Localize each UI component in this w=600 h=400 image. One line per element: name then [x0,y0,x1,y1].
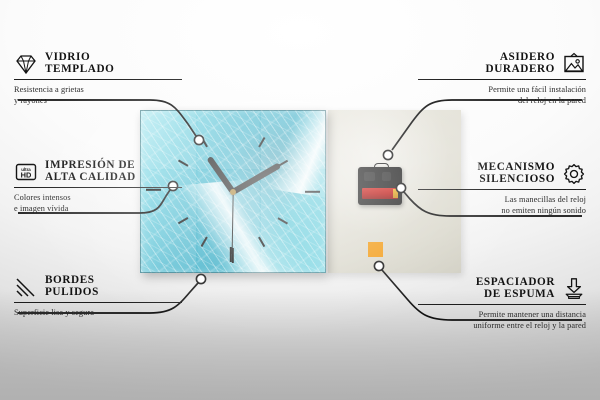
feature-title-line2: DURADERO [486,64,555,76]
spacer-arrow-icon [562,277,586,301]
product-infographic: VIDRIO TEMPLADO Resistencia a grietas y … [0,0,600,400]
ultra-hd-icon: ultra HD [14,160,38,184]
picture-hanger-icon [562,52,586,76]
feature-subtitle-line2: y rayones [14,95,182,106]
feature-asidero-duradero: ASIDERO DURADERO Permite una fácil insta… [418,52,586,106]
feature-bordes-pulidos: BORDES PULIDOS Superficie lisa y segura [14,275,182,318]
feature-subtitle-line1: Las manecillas del reloj [418,194,586,205]
diamond-icon [14,52,38,76]
feature-impresion-alta-calidad: ultra HD IMPRESIÓN DE ALTA CALIDAD Color… [14,160,182,214]
feature-title-line2: TEMPLADO [45,64,114,76]
feature-title-line2: SILENCIOSO [478,174,556,186]
gear-icon [562,162,586,186]
feature-subtitle-line2: e imagen vívida [14,203,182,214]
feature-subtitle-line1: Superficie lisa y segura [14,307,182,318]
feature-rule [14,302,182,303]
feature-title-line2: DE ESPUMA [476,289,555,301]
polished-edges-icon [14,275,38,299]
feature-title-line2: PULIDOS [45,287,99,299]
feature-subtitle-line1: Permite una fácil instalación [418,84,586,95]
feature-rule [418,189,586,190]
feature-rule [14,79,182,80]
feature-subtitle-line2: del reloj en la pared [418,95,586,106]
feature-subtitle-line1: Permite mantener una distancia [418,309,586,320]
feature-rule [418,304,586,305]
feature-subtitle-line2: uniforme entre el reloj y la pared [418,320,586,331]
feature-subtitle-line1: Colores intensos [14,192,182,203]
feature-espaciador-de-espuma: ESPACIADOR DE ESPUMA Permite mantener un… [418,277,586,331]
feature-subtitle-line1: Resistencia a grietas [14,84,182,95]
feature-mecanismo-silencioso: MECANISMO SILENCIOSO Las manecillas del … [418,162,586,216]
feature-subtitle-line2: no emiten ningún sonido [418,205,586,216]
feature-vidrio-templado: VIDRIO TEMPLADO Resistencia a grietas y … [14,52,182,106]
feature-rule [418,79,586,80]
svg-text:HD: HD [21,170,32,179]
feature-title-line2: ALTA CALIDAD [45,172,136,184]
feature-rule [14,187,182,188]
